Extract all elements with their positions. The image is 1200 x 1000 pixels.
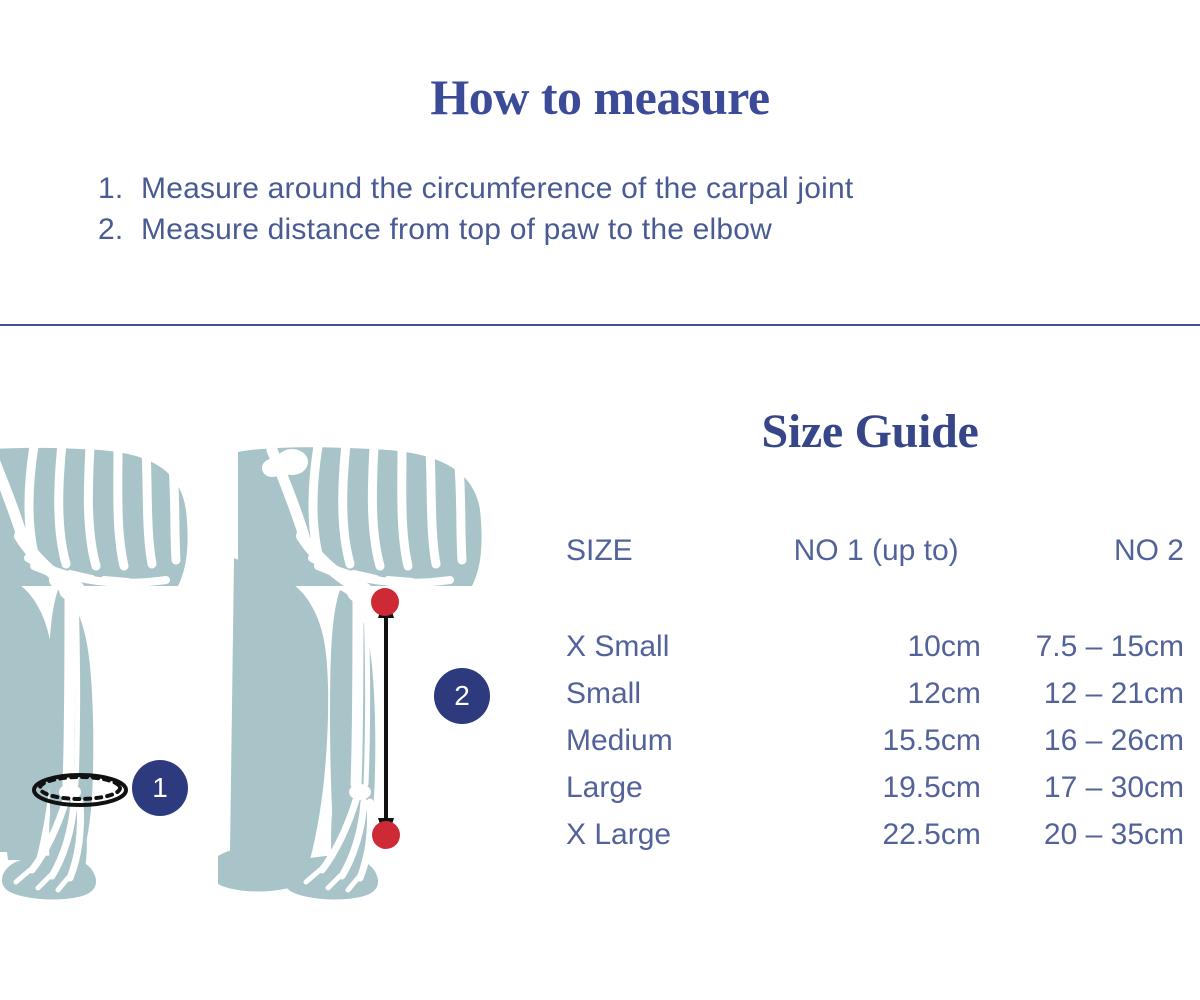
cell-size: X Large <box>566 820 772 850</box>
cell-no1: 12cm <box>772 679 981 726</box>
size-guide-page: How to measure 1. Measure around the cir… <box>0 0 1200 1000</box>
cell-no1: 22.5cm <box>772 820 981 850</box>
instructions-list: 1. Measure around the circumference of t… <box>98 174 1138 256</box>
table-row: Medium 15.5cm 16 – 26cm <box>566 726 1184 773</box>
instruction-item: 2. Measure distance from top of paw to t… <box>98 215 1138 245</box>
size-guide-table: SIZE NO 1 (up to) NO 2 X Small 10cm 7.5 … <box>566 536 1184 850</box>
cell-no2: 20 – 35cm <box>981 820 1184 850</box>
elbow-marker-icon <box>371 588 399 616</box>
table-body: X Small 10cm 7.5 – 15cm Small 12cm 12 – … <box>566 632 1184 850</box>
cell-no1: 10cm <box>772 632 981 679</box>
instruction-text: Measure distance from top of paw to the … <box>141 215 1138 245</box>
paw-marker-icon <box>372 821 400 849</box>
column-header-no2: NO 2 <box>981 536 1184 632</box>
column-header-no1: NO 1 (up to) <box>772 536 981 632</box>
table-row: Small 12cm 12 – 21cm <box>566 679 1184 726</box>
dog-skeleton-carpal-circumference <box>0 440 188 899</box>
cell-size: Small <box>566 679 772 726</box>
dog-skeleton-paw-to-elbow-length <box>218 440 482 899</box>
step-badge-2: 2 <box>434 668 490 724</box>
cell-no1: 19.5cm <box>772 773 981 820</box>
length-measure-arrow-icon <box>378 592 394 844</box>
dog-skeleton-diagram-icon <box>0 440 500 910</box>
table-row: X Large 22.5cm 20 – 35cm <box>566 820 1184 850</box>
size-guide-title: Size Guide <box>560 404 1180 459</box>
table-row: X Small 10cm 7.5 – 15cm <box>566 632 1184 679</box>
page-title: How to measure <box>0 68 1200 126</box>
cell-no1: 15.5cm <box>772 726 981 773</box>
cell-no2: 7.5 – 15cm <box>981 632 1184 679</box>
cell-no2: 16 – 26cm <box>981 726 1184 773</box>
step-badge-1: 1 <box>132 760 188 816</box>
step-badge-2-label: 2 <box>454 680 470 712</box>
cell-no2: 12 – 21cm <box>981 679 1184 726</box>
step-badge-1-label: 1 <box>152 772 168 804</box>
instruction-number: 1. <box>98 174 141 204</box>
cell-size: Medium <box>566 726 772 773</box>
instruction-item: 1. Measure around the circumference of t… <box>98 174 1138 204</box>
section-divider <box>0 324 1200 326</box>
column-header-size: SIZE <box>566 536 772 632</box>
table-header: SIZE NO 1 (up to) NO 2 <box>566 536 1184 632</box>
cell-size: X Small <box>566 632 772 679</box>
table-row: Large 19.5cm 17 – 30cm <box>566 773 1184 820</box>
table-header-row: SIZE NO 1 (up to) NO 2 <box>566 536 1184 632</box>
instruction-number: 2. <box>98 215 141 245</box>
instruction-text: Measure around the circumference of the … <box>141 174 1138 204</box>
cell-no2: 17 – 30cm <box>981 773 1184 820</box>
measurement-illustration <box>0 440 500 910</box>
cell-size: Large <box>566 773 772 820</box>
